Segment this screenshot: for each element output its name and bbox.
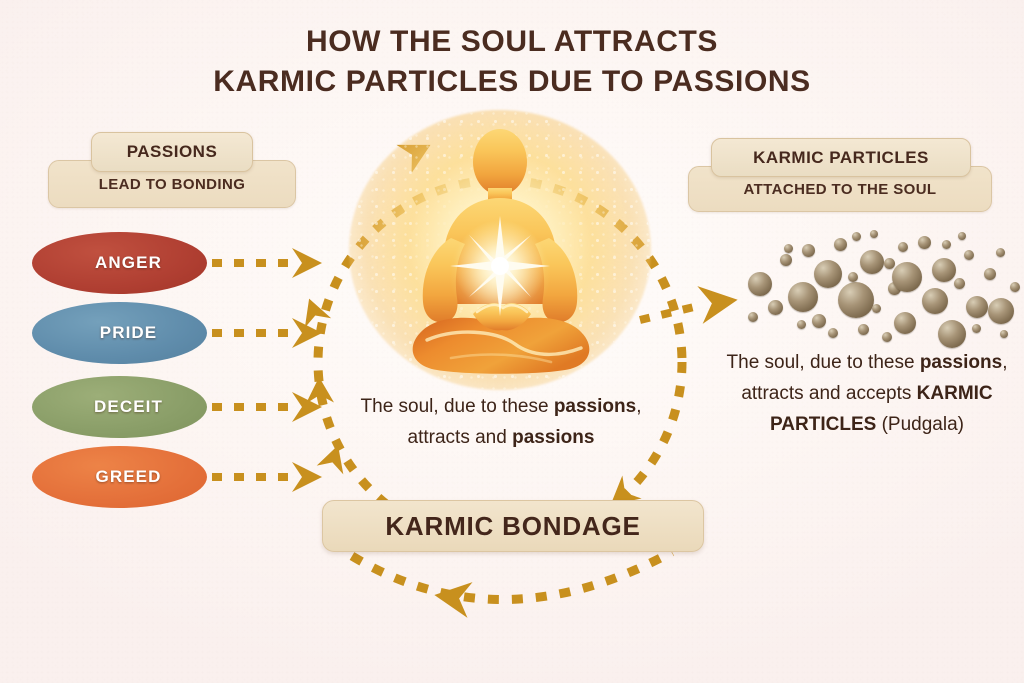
right-text-bold1: passions [920,352,1002,373]
arrow-to-particles [640,306,698,320]
karmic-bondage-label: KARMIC BONDAGE [385,511,640,542]
center-text-part1: The soul, due to these [361,396,554,417]
arrowhead-pride [292,318,322,348]
arrowhead-bottom [432,577,473,618]
passion-pill-deceit[interactable]: DECEIT [32,376,207,438]
right-description: The soul, due to these passions, attract… [722,348,1012,440]
bottom-return-arc [352,552,672,600]
passion-pill-anger[interactable]: ANGER [32,232,207,294]
karmic-particles-header: ATTACHED TO THE SOUL KARMIC PARTICLES [688,138,994,214]
infographic-canvas: HOW THE SOUL ATTRACTS KARMIC PARTICLES D… [0,0,1024,683]
passion-label: ANGER [95,253,162,273]
arrowhead-anger [292,248,322,278]
karmic-label: KARMIC PARTICLES [711,138,971,177]
right-text-part3: (Pudgala) [876,414,964,435]
soul-illustration [355,118,645,383]
passion-label: DECEIT [94,397,163,417]
karmic-bondage-box: KARMIC BONDAGE [322,500,704,552]
center-description: The soul, due to these passions, attract… [336,392,666,454]
arrowhead-deceit [292,392,322,422]
right-text-part1: The soul, due to these [727,352,920,373]
karmic-particle-cluster [742,228,1022,346]
arrowhead-greed [292,462,322,492]
passion-label: PRIDE [100,323,157,343]
title-line-1: HOW THE SOUL ATTRACTS [306,25,718,58]
arrowhead-right [697,281,740,324]
arrowhead-left-lower [305,377,334,404]
passion-pill-pride[interactable]: PRIDE [32,302,207,364]
page-title: HOW THE SOUL ATTRACTS KARMIC PARTICLES D… [0,22,1024,101]
meditating-figure-icon [355,118,645,383]
center-text-bold1: passions [554,396,636,417]
title-line-2: KARMIC PARTICLES DUE TO PASSIONS [0,62,1024,102]
passions-header: LEAD TO BONDING PASSIONS [48,132,298,210]
center-text-bold2: passions [512,427,594,448]
passions-label: PASSIONS [91,132,253,172]
arrowhead-left-mid [296,294,331,328]
passion-pill-greed[interactable]: GREED [32,446,207,508]
passion-label: GREED [96,467,162,487]
